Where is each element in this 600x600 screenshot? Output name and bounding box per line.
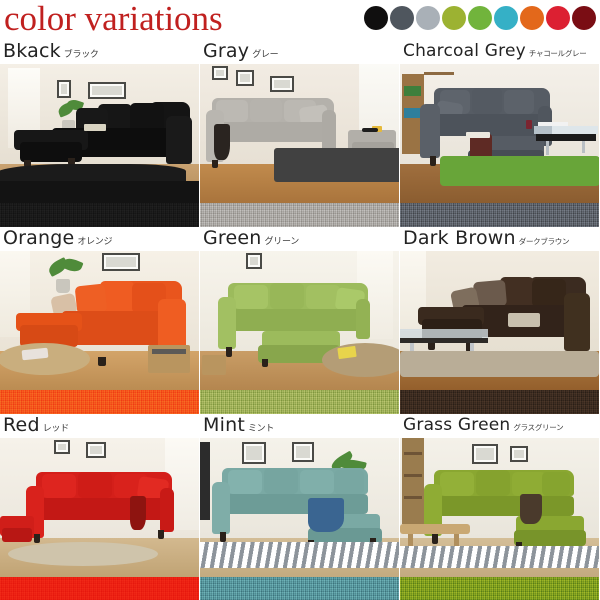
swatch-dot-charcoal[interactable] <box>390 6 414 30</box>
variation-name-jp: チャコールグレー <box>529 48 587 60</box>
variation-name-jp: オレンジ <box>77 236 112 248</box>
variation-name-jp: グラスグリーン <box>513 422 563 434</box>
variation-swatch-charcoal-grey <box>400 203 599 227</box>
variation-label-charcoal-grey: Charcoal Grey チャコールグレー <box>400 40 599 64</box>
variation-photo-orange[interactable] <box>0 251 199 390</box>
page-title: color variations <box>0 0 223 38</box>
page-header: color variations <box>0 0 600 40</box>
swatch-dot-black[interactable] <box>364 6 388 30</box>
variation-name-jp: グレー <box>252 49 278 61</box>
variation-cell-mint[interactable]: Mint ミント <box>200 414 399 600</box>
page-root: color variations Bkack ブラック <box>0 0 600 600</box>
variation-photo-green[interactable] <box>200 251 399 390</box>
variation-swatch-gray <box>200 203 399 227</box>
variation-label-dark-brown: Dark Brown ダークブラウン <box>400 227 599 251</box>
variation-label-gray: Gray グレー <box>200 40 399 64</box>
variation-cell-orange[interactable]: Orange オレンジ <box>0 227 199 414</box>
variation-cell-gray[interactable]: Gray グレー <box>200 40 399 227</box>
variation-swatch-red <box>0 577 199 600</box>
swatch-dot-gray[interactable] <box>416 6 440 30</box>
variation-name-en: Charcoal Grey <box>403 40 526 62</box>
swatch-dot-darkred[interactable] <box>572 6 596 30</box>
variation-label-green: Green グリーン <box>200 227 399 251</box>
variation-swatch-dark-brown <box>400 390 599 414</box>
variation-cell-charcoal-grey[interactable]: Charcoal Grey チャコールグレー <box>400 40 599 227</box>
variation-name-en: Grass Green <box>403 414 510 436</box>
variation-name-jp: ブラック <box>64 49 99 61</box>
variation-swatch-orange <box>0 390 199 414</box>
variation-name-en: Dark Brown <box>403 227 516 249</box>
variation-name-en: Red <box>3 414 40 436</box>
variation-name-en: Mint <box>203 414 245 436</box>
variation-name-en: Gray <box>203 40 249 62</box>
variation-photo-black[interactable] <box>0 64 199 203</box>
variation-label-black: Bkack ブラック <box>0 40 199 64</box>
variation-name-jp: ミント <box>248 423 274 435</box>
variation-name-en: Orange <box>3 227 74 249</box>
swatch-dot-olive[interactable] <box>442 6 466 30</box>
swatch-dot-mint[interactable] <box>494 6 518 30</box>
variation-name-jp: グリーン <box>265 236 299 248</box>
swatch-dot-red[interactable] <box>546 6 570 30</box>
variation-photo-mint[interactable] <box>200 438 399 577</box>
swatch-dot-green[interactable] <box>468 6 492 30</box>
swatch-dot-orange[interactable] <box>520 6 544 30</box>
variation-label-mint: Mint ミント <box>200 414 399 438</box>
variation-cell-green[interactable]: Green グリーン <box>200 227 399 414</box>
variation-photo-red[interactable] <box>0 438 199 577</box>
variation-label-red: Red レッド <box>0 414 199 438</box>
variation-photo-grass-green[interactable] <box>400 438 599 577</box>
variation-cell-red[interactable]: Red レッド <box>0 414 199 600</box>
color-variation-grid: Bkack ブラック <box>0 40 600 600</box>
variation-name-jp: ダークブラウン <box>519 236 569 248</box>
variation-photo-gray[interactable] <box>200 64 399 203</box>
variation-photo-charcoal-grey[interactable] <box>400 64 599 203</box>
variation-name-en: Green <box>203 227 262 249</box>
variation-name-jp: レッド <box>43 423 69 435</box>
variation-swatch-mint <box>200 577 399 600</box>
variation-swatch-grass-green <box>400 577 599 600</box>
variation-name-en: Bkack <box>3 40 61 62</box>
variation-cell-dark-brown[interactable]: Dark Brown ダークブラウン <box>400 227 599 414</box>
variation-cell-grass-green[interactable]: Grass Green グラスグリーン <box>400 414 599 600</box>
variation-swatch-black <box>0 203 199 227</box>
color-swatch-dot-row <box>364 6 596 30</box>
variation-label-orange: Orange オレンジ <box>0 227 199 251</box>
variation-label-grass-green: Grass Green グラスグリーン <box>400 414 599 438</box>
variation-photo-dark-brown[interactable] <box>400 251 599 390</box>
variation-swatch-green <box>200 390 399 414</box>
variation-cell-black[interactable]: Bkack ブラック <box>0 40 199 227</box>
